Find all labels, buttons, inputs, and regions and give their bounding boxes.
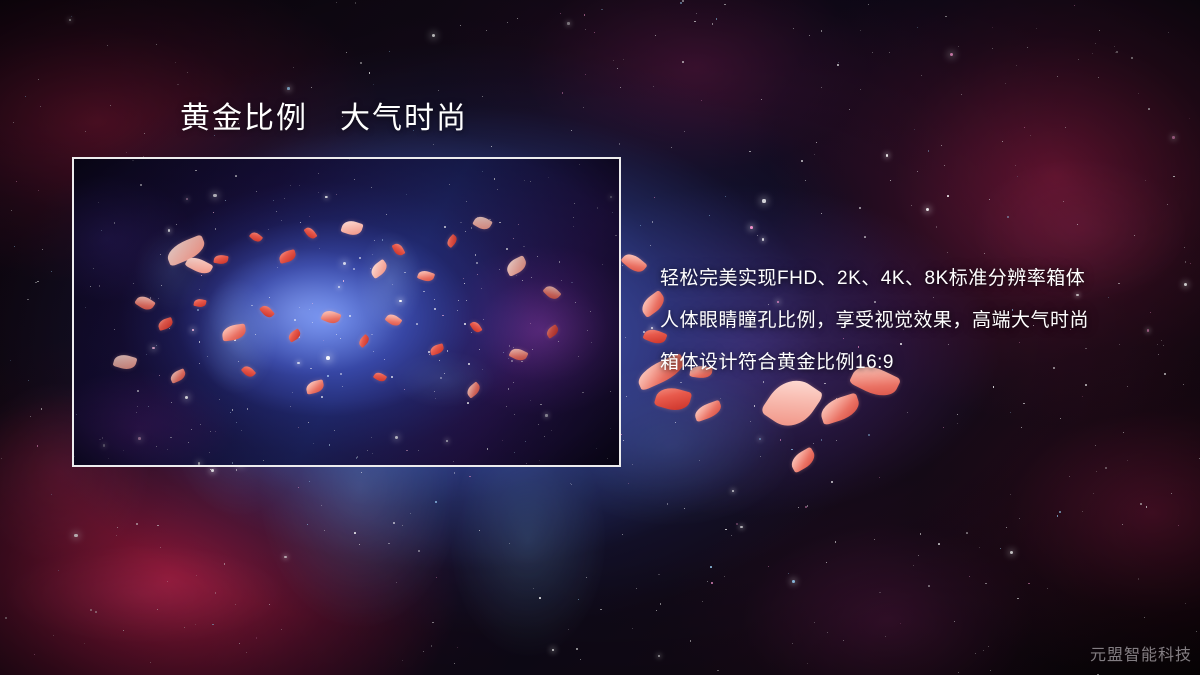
body-line-3: 箱体设计符合黄金比例16:9 — [660, 342, 1180, 384]
frame-inner-content — [74, 159, 619, 465]
slide-body-text: 轻松完美实现FHD、2K、4K、8K标准分辨率箱体 人体眼睛瞳孔比例，享受视觉效… — [660, 258, 1180, 384]
rose-petal — [788, 447, 819, 474]
framed-galaxy-image — [72, 157, 621, 467]
presentation-slide: 黄金比例 大气时尚 轻松完美实现FHD、2K、4K、8K标准分辨率箱体 人体眼睛… — [0, 0, 1200, 675]
framed-image-vignette — [74, 159, 619, 465]
rose-petal — [692, 400, 723, 423]
slide-title: 黄金比例 大气时尚 — [180, 101, 468, 137]
rose-petal — [654, 384, 693, 415]
company-watermark: 元盟智能科技 — [1090, 645, 1192, 667]
rose-petal — [620, 250, 647, 276]
rose-petal — [818, 392, 863, 425]
body-line-1: 轻松完美实现FHD、2K、4K、8K标准分辨率箱体 — [660, 258, 1180, 300]
body-line-2: 人体眼睛瞳孔比例，享受视觉效果，高端大气时尚 — [660, 300, 1180, 342]
